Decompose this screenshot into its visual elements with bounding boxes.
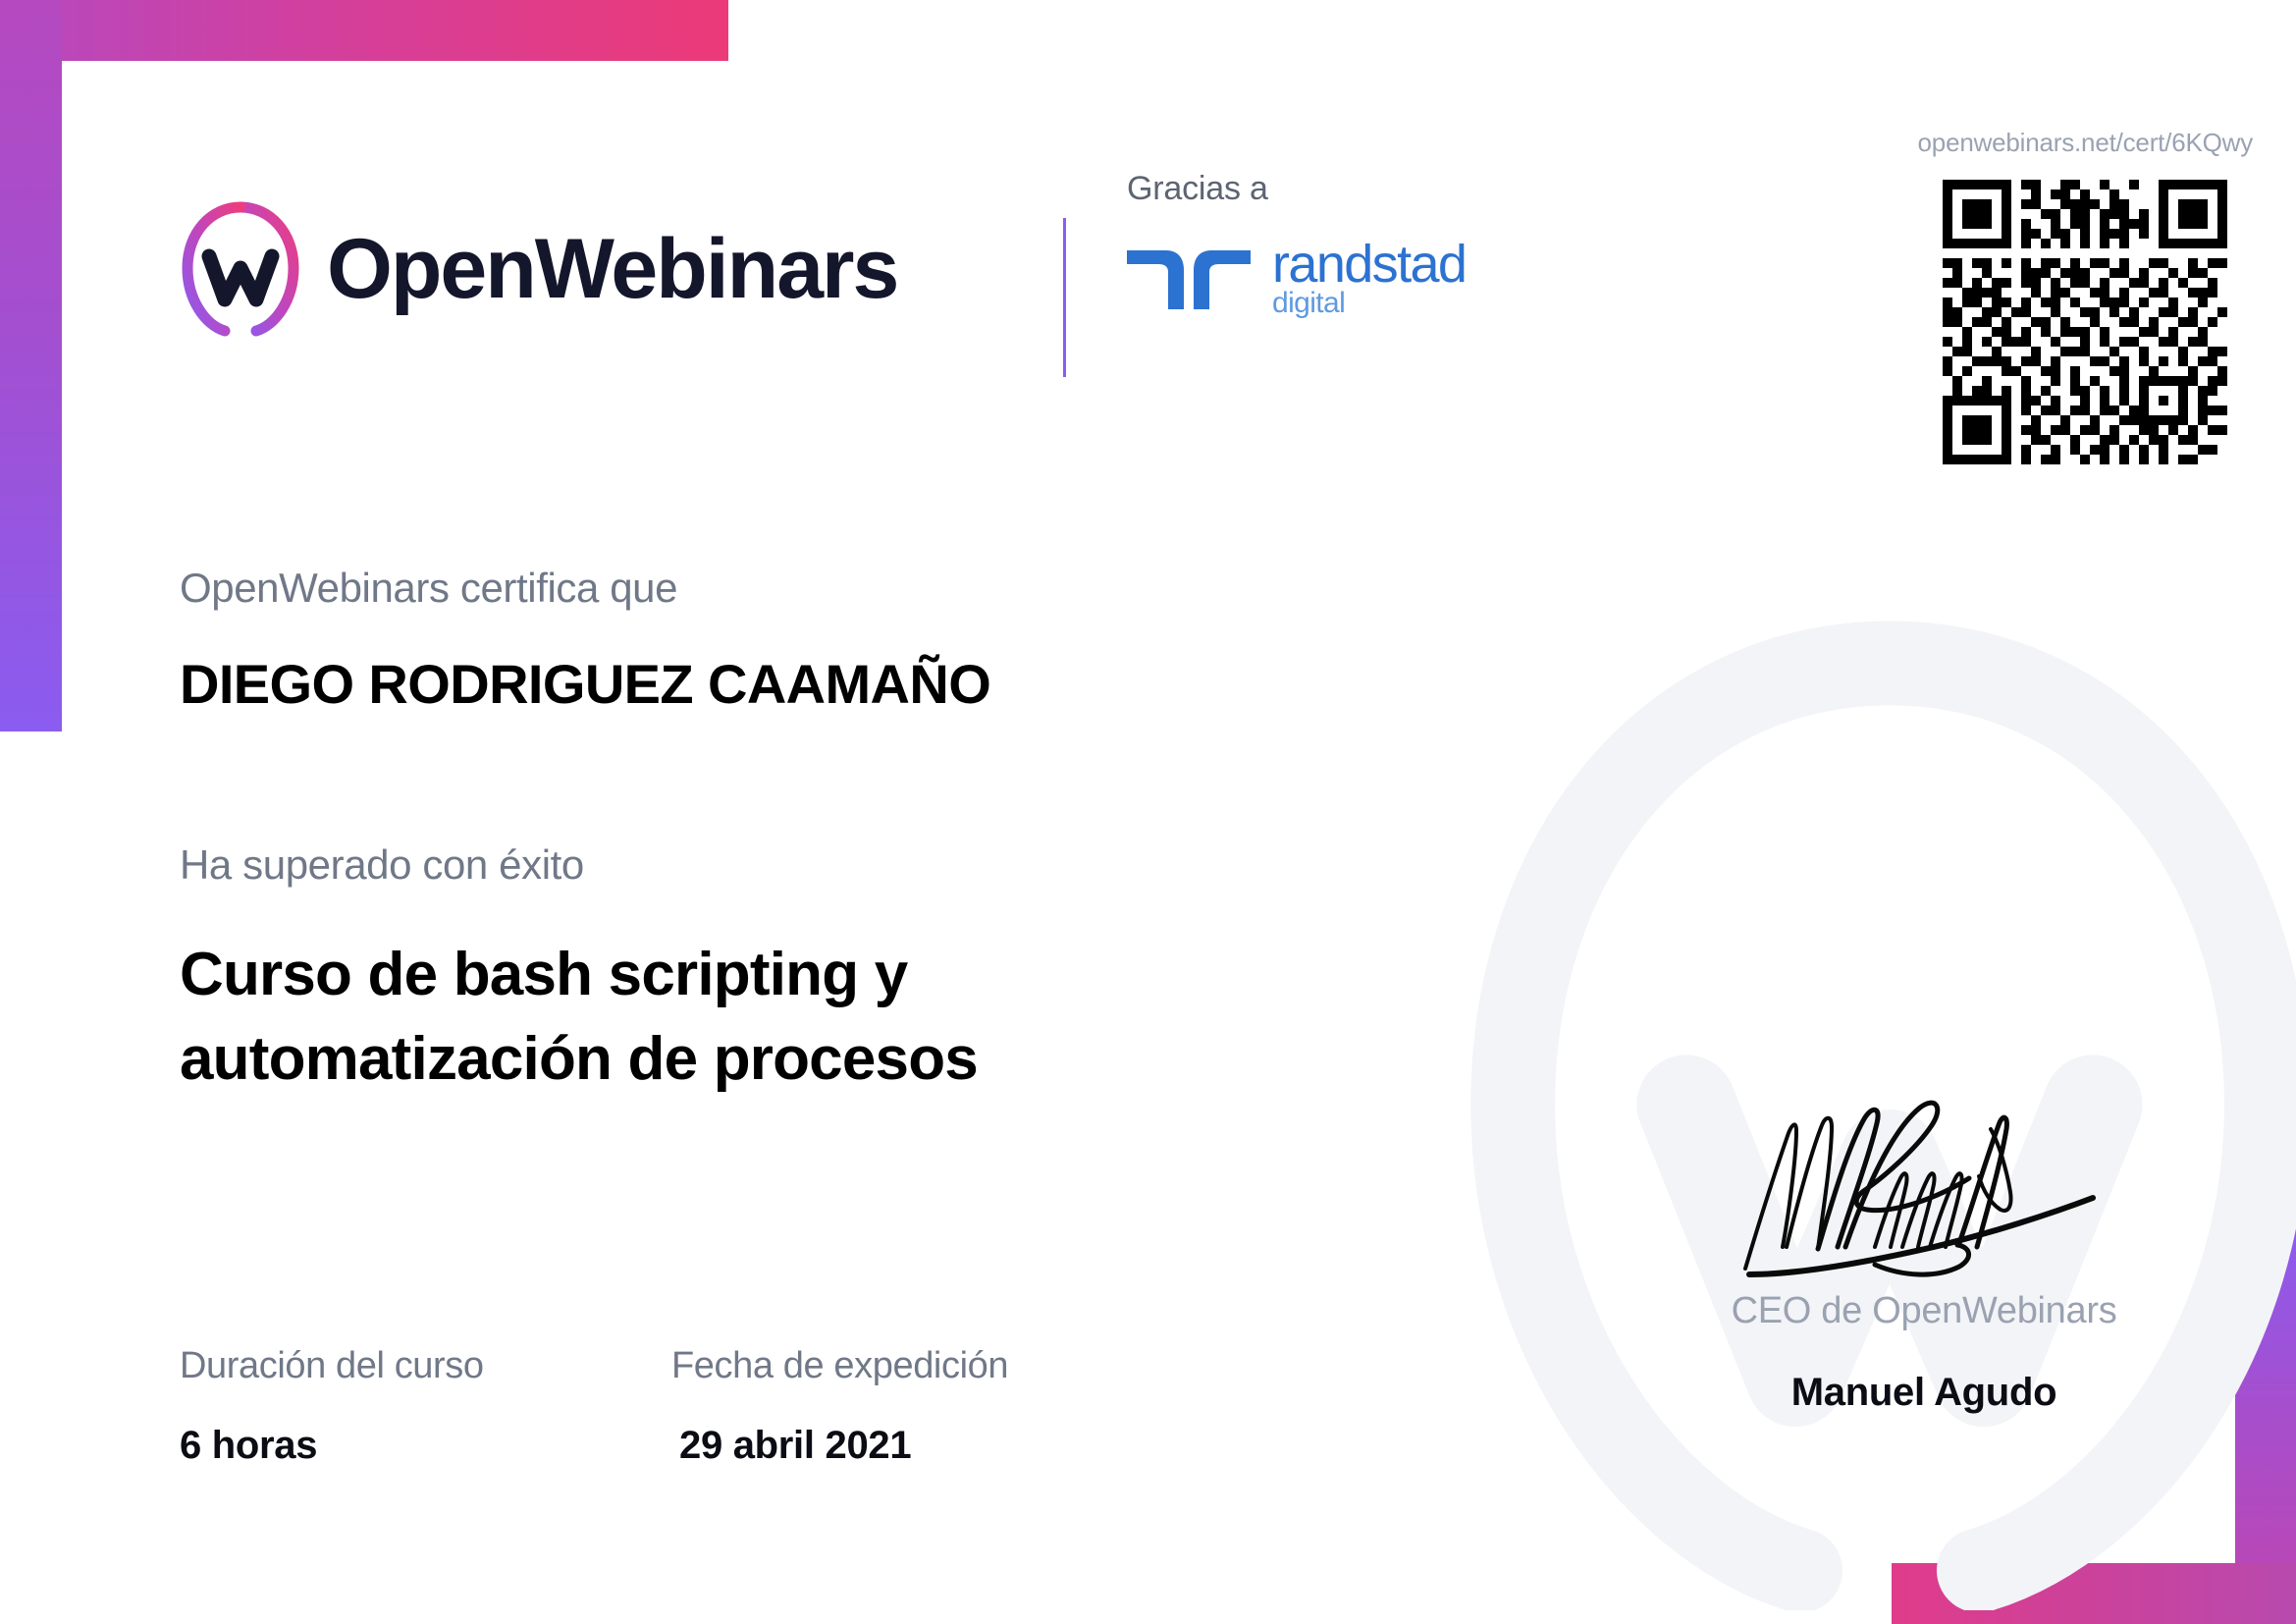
student-name: DIEGO RODRIGUEZ CAAMAÑO [180, 656, 990, 714]
header-divider [1063, 218, 1066, 377]
corner-bracket-top-left-horizontal [0, 0, 728, 61]
certificate-url[interactable]: openwebinars.net/cert/6KQwy [1918, 128, 2253, 158]
issue-date-block: Fecha de expedición 29 abril 2021 [671, 1347, 1008, 1465]
sponsor-block: Gracias a randstad digital [1127, 172, 1466, 316]
duration-label: Duración del curso [180, 1347, 484, 1384]
openwebinars-w-circle-icon [180, 201, 301, 337]
certificate-qr-code-icon[interactable] [1943, 180, 2227, 464]
randstad-name: randstad [1272, 235, 1466, 294]
passed-label: Ha superado con éxito [180, 844, 584, 886]
randstad-tree-icon [1127, 246, 1251, 311]
verification-block[interactable]: openwebinars.net/cert/6KQwy [1918, 128, 2253, 464]
student-name-row: DIEGO RODRIGUEZ CAAMAÑO [180, 656, 990, 714]
signature-role: CEO de OpenWebinars [1708, 1292, 2140, 1329]
course-title-row: Curso de bash scripting y automatización… [180, 933, 1161, 1101]
randstad-sub: digital [1272, 287, 1345, 319]
randstad-wordmark: randstad digital [1272, 241, 1466, 316]
certifies-label: OpenWebinars certifica que [180, 568, 677, 609]
openwebinars-logo: OpenWebinars [180, 201, 897, 337]
randstad-digital-logo: randstad digital [1127, 241, 1466, 316]
passed-label-row: Ha superado con éxito [180, 844, 584, 886]
course-title: Curso de bash scripting y automatización… [180, 933, 1161, 1101]
corner-bracket-bottom-right-horizontal [1892, 1563, 2296, 1624]
issue-date-label: Fecha de expedición [671, 1347, 1008, 1384]
certificate-page: OpenWebinars Gracias a randstad digital … [0, 0, 2296, 1624]
corner-bracket-top-left-vertical [0, 0, 62, 731]
handwritten-signature-icon [1728, 1100, 2120, 1286]
duration-block: Duración del curso 6 horas [180, 1347, 484, 1465]
certifies-label-row: OpenWebinars certifica que [180, 568, 677, 609]
openwebinars-wordmark: OpenWebinars [327, 227, 897, 311]
issue-date-value: 29 abril 2021 [679, 1426, 1008, 1465]
signature-name: Manuel Agudo [1708, 1373, 2140, 1412]
signature-block: CEO de OpenWebinars Manuel Agudo [1708, 1100, 2140, 1412]
duration-value: 6 horas [180, 1426, 484, 1465]
thanks-label: Gracias a [1127, 172, 1466, 205]
